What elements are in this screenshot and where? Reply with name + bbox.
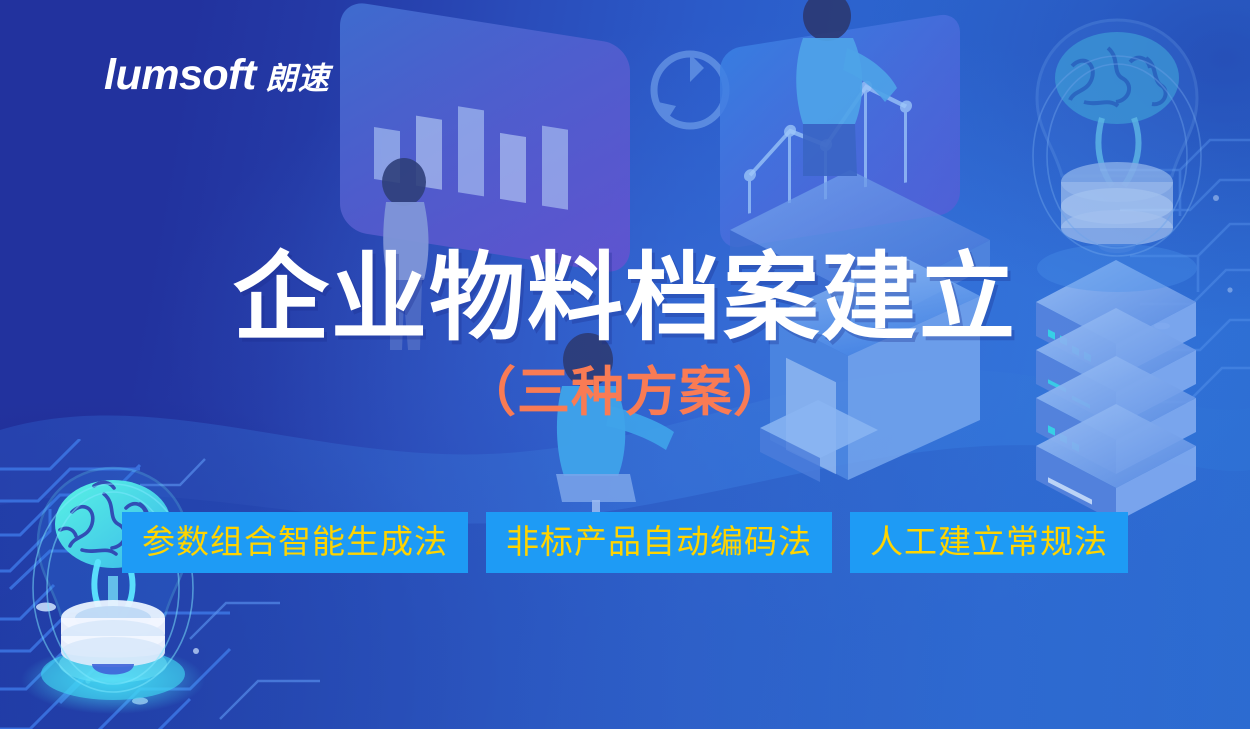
- promotional-banner: lumsoft 朗速 企业物料档案建立 （三种方案） 参数组合智能生成法 非标产…: [0, 0, 1250, 729]
- logo-latin-text: lumsoft: [104, 54, 256, 97]
- method-tag-row: 参数组合智能生成法 非标产品自动编码法 人工建立常规法: [0, 512, 1250, 573]
- brain-lightbulb-icon-primary: [18, 458, 208, 723]
- recycle-arrows-icon: [654, 54, 726, 126]
- page-title: 企业物料档案建立: [0, 248, 1250, 350]
- method-tag-2[interactable]: 非标产品自动编码法: [486, 512, 832, 573]
- page-subtitle: （三种方案）: [0, 364, 1250, 422]
- method-tag-3[interactable]: 人工建立常规法: [850, 512, 1128, 573]
- logo-chinese-text: 朗速: [266, 63, 330, 94]
- brand-logo[interactable]: lumsoft 朗速: [104, 54, 330, 97]
- headline-block: 企业物料档案建立 （三种方案）: [0, 248, 1250, 422]
- method-tag-1[interactable]: 参数组合智能生成法: [122, 512, 468, 573]
